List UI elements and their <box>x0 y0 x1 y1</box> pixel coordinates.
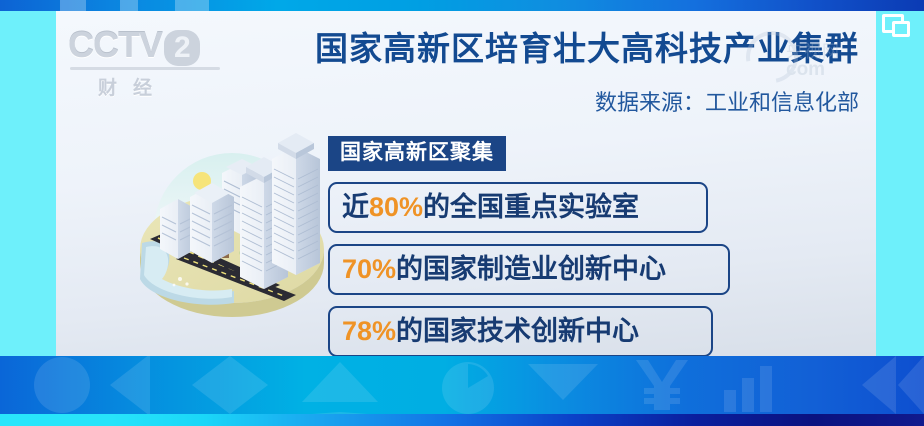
page-title: 国家高新区培育壮大高科技产业集群 <box>274 27 859 71</box>
chevron-icon <box>862 356 896 414</box>
stats-block: 国家高新区聚集 近80%的全国重点实验室 70%的国家制造业创新中心 78%的国… <box>328 136 728 356</box>
logo-underline <box>70 67 220 70</box>
circle-icon <box>34 357 90 413</box>
main-panel: CCTV2 财经 国家高新区培育壮大高科技产业集群 数据来源：工业和信息化部 央… <box>56 11 876 356</box>
stat-prefix-1: 近 <box>342 192 369 222</box>
envelope-icon <box>528 364 598 400</box>
isometric-city-illustration <box>114 121 364 331</box>
stat-number-1: 80% <box>369 192 423 222</box>
broadcast-graphic: CCTV2 财经 国家高新区培育壮大高科技产业集群 数据来源：工业和信息化部 央… <box>0 0 924 426</box>
stat-item-2: 70%的国家制造业创新中心 <box>328 244 730 295</box>
triangle-icon <box>302 362 378 402</box>
stat-suffix-3: 的国家技术创新中心 <box>396 316 639 346</box>
stats-badge: 国家高新区聚集 <box>328 136 506 171</box>
stat-number-3: 78% <box>342 316 396 346</box>
stat-item-1: 近80%的全国重点实验室 <box>328 182 708 233</box>
cctv-wordmark: CCTV2 <box>62 27 242 66</box>
bottom-accent-strip <box>0 414 924 426</box>
bar-chart-icon <box>724 366 772 412</box>
cctv-letters: CCTV <box>68 24 162 65</box>
data-source-label: 数据来源：工业和信息化部 <box>274 87 859 119</box>
pie-chart-icon <box>442 362 494 414</box>
bottom-decor-bar <box>0 356 924 426</box>
picture-in-picture-icon[interactable] <box>882 14 906 34</box>
cctv-channel-name: 财经 <box>62 73 242 100</box>
yen-icon <box>636 360 688 410</box>
cctv-channel-number: 2 <box>164 30 200 66</box>
diamond-icon <box>192 356 268 414</box>
stat-number-2: 70% <box>342 254 396 284</box>
top-gradient-strip <box>0 0 924 11</box>
stat-item-3: 78%的国家技术创新中心 <box>328 306 713 356</box>
stat-suffix-2: 的国家制造业创新中心 <box>396 254 666 284</box>
right-cyan-rail <box>876 11 924 356</box>
left-cyan-rail <box>0 11 56 356</box>
cctv-logo: CCTV2 财经 <box>62 27 242 99</box>
stat-suffix-1: 的全国重点实验室 <box>423 192 639 222</box>
